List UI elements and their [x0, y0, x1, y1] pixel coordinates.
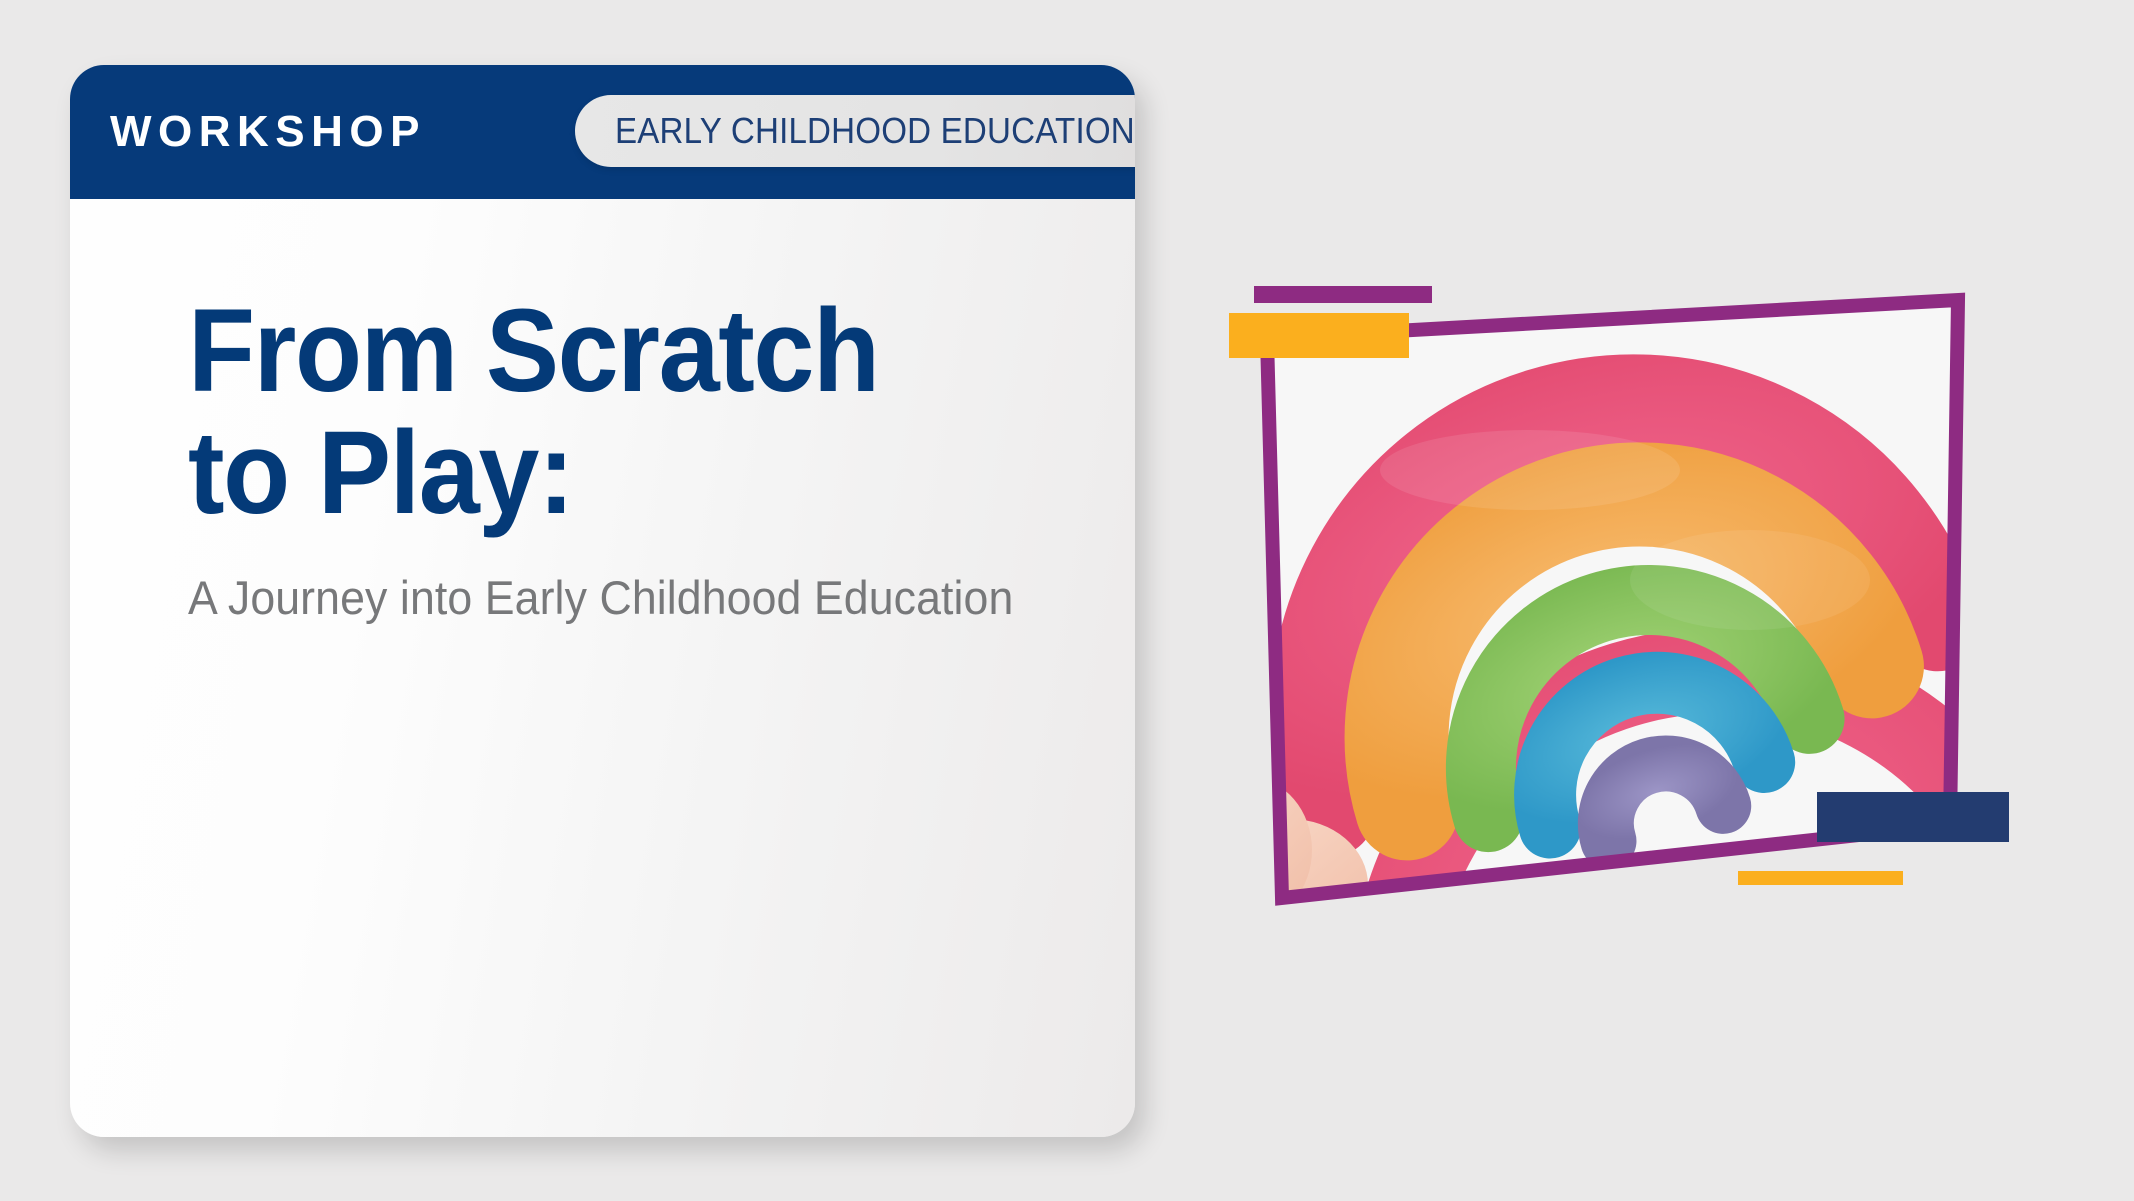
poster-canvas: WORKSHOP EARLY CHILDHOOD EDUCATION From …: [0, 0, 2134, 1201]
eyebrow-label: WORKSHOP: [110, 110, 426, 154]
page-title: From Scratch to Play:: [188, 199, 1069, 534]
workshop-card: WORKSHOP EARLY CHILDHOOD EDUCATION From …: [70, 65, 1135, 1137]
card-header: WORKSHOP EARLY CHILDHOOD EDUCATION: [70, 65, 1135, 199]
purple-top-bar: [1254, 286, 1432, 303]
card-body: From Scratch to Play: A Journey into Ear…: [70, 199, 1135, 1137]
navy-bottom-bar: [1817, 792, 2009, 842]
visual-composition: [1230, 250, 1990, 980]
orange-top-bar: [1229, 313, 1409, 358]
page-subtitle: A Journey into Early Childhood Education: [188, 534, 1088, 625]
category-badge: EARLY CHILDHOOD EDUCATION: [575, 95, 1135, 167]
orange-bottom-bar: [1738, 871, 1903, 885]
category-badge-label: EARLY CHILDHOOD EDUCATION: [615, 110, 1135, 152]
